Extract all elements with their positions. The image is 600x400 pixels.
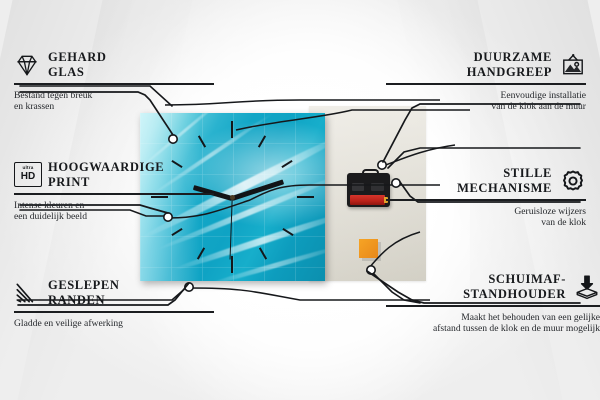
- feature-title: GEHARDGLAS: [48, 50, 106, 79]
- feature-stille-mechanisme: STILLEMECHANISME Geruisloze wijzersvan d…: [386, 166, 586, 229]
- feature-title: GESLEPENRANDEN: [48, 278, 120, 307]
- feature-header: STILLEMECHANISME: [386, 166, 586, 195]
- feature-title: DUURZAMEHANDGREEP: [467, 50, 552, 79]
- feature-header: GESLEPENRANDEN: [14, 278, 214, 307]
- feature-header: ultra HD HOOGWAARDIGEPRINT: [14, 160, 214, 189]
- framed-picture-icon: [560, 52, 586, 78]
- foam-spacer-pad: [359, 239, 378, 258]
- ultra-hd-icon: ultra HD: [14, 162, 40, 188]
- divider: [14, 311, 214, 313]
- clock-tick-6: [231, 256, 233, 273]
- feature-header: GEHARDGLAS: [14, 50, 214, 79]
- feature-duurzame-handgreep: DUURZAMEHANDGREEP Eenvoudige installatie…: [386, 50, 586, 113]
- clock-tick-3: [297, 196, 314, 198]
- feature-geslepen-randen: GESLEPENRANDEN Gladde en veilige afwerki…: [14, 278, 214, 329]
- feature-description: Bestand tegen breuken krassen: [14, 90, 214, 113]
- feature-description: Maakt het behouden van een gelijkeafstan…: [386, 312, 600, 335]
- clock-mechanism: [347, 169, 390, 207]
- feature-description: Gladde en veilige afwerking: [14, 318, 214, 330]
- mechanism-housing: [347, 173, 390, 207]
- feature-description: Intense kleuren eneen duidelijk beeld: [14, 200, 214, 223]
- feature-schuimafstandhouder: SCHUIMAF-STANDHOUDER Maakt het behouden …: [386, 272, 600, 335]
- feature-title: SCHUIMAF-STANDHOUDER: [463, 272, 566, 301]
- press-down-pad-icon: [574, 274, 600, 300]
- diagonal-lines-icon: [14, 280, 40, 306]
- product-feature-infographic: GEHARDGLAS Bestand tegen breuken krassen…: [0, 0, 600, 400]
- battery: [350, 195, 385, 205]
- feature-header: SCHUIMAF-STANDHOUDER: [386, 272, 600, 301]
- feature-description: Geruisloze wijzersvan de klok: [386, 206, 586, 229]
- divider: [14, 193, 214, 195]
- feature-hoogwaardige-print: ultra HD HOOGWAARDIGEPRINT Intense kleur…: [14, 160, 214, 223]
- divider: [14, 83, 214, 85]
- feature-title: HOOGWAARDIGEPRINT: [48, 160, 164, 189]
- mechanism-detail: [352, 183, 364, 191]
- gear-icon: [560, 168, 586, 194]
- divider: [386, 199, 586, 201]
- clock-hand-hub: [230, 195, 235, 200]
- divider: [386, 83, 586, 85]
- divider: [386, 305, 600, 307]
- feature-header: DUURZAMEHANDGREEP: [386, 50, 586, 79]
- mechanism-detail: [371, 183, 384, 191]
- feature-title: STILLEMECHANISME: [457, 166, 552, 195]
- clock-tick-12: [231, 121, 233, 138]
- feature-gehard-glas: GEHARDGLAS Bestand tegen breuken krassen: [14, 50, 214, 113]
- feature-description: Eenvoudige installatievan de klok aan de…: [386, 90, 586, 113]
- diamond-icon: [14, 52, 40, 78]
